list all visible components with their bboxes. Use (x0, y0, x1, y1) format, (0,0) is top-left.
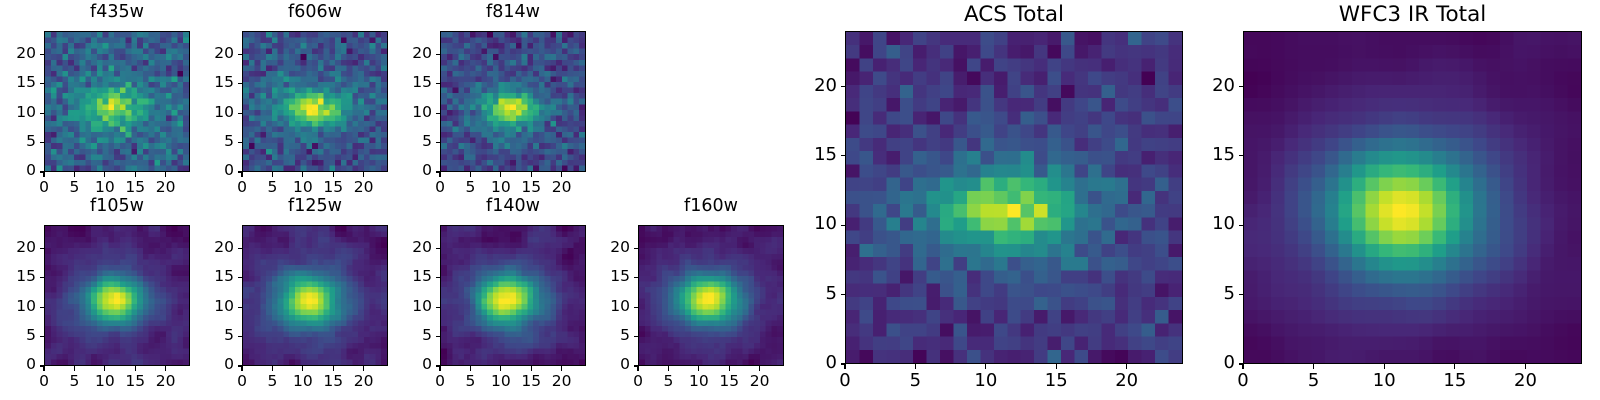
y-tick-mark (436, 83, 441, 84)
x-tick-mark (333, 366, 334, 371)
heatmap-image (242, 31, 388, 172)
y-tick-label: 5 (789, 285, 837, 303)
x-tick-mark (241, 172, 242, 177)
y-tick-mark (238, 83, 243, 84)
x-tick-mark (531, 172, 532, 177)
y-tick-mark (436, 307, 441, 308)
x-tick-mark (302, 366, 303, 371)
x-tick-mark (104, 172, 105, 177)
y-tick-mark (436, 113, 441, 114)
y-tick-mark (238, 142, 243, 143)
y-tick-mark (634, 307, 639, 308)
y-tick-label: 20 (1187, 77, 1235, 95)
panel-acs-total: ACS Total0510152005101520 (789, 0, 1189, 400)
y-tick-label: 5 (0, 328, 36, 344)
y-tick-label: 20 (0, 240, 36, 256)
x-tick-mark (1525, 364, 1526, 369)
panel-title: ACS Total (845, 4, 1183, 26)
y-tick-label: 10 (789, 215, 837, 233)
y-tick-label: 15 (0, 75, 36, 91)
x-tick-label: 15 (1433, 372, 1477, 390)
x-tick-label: 20 (738, 374, 782, 390)
y-tick-label: 5 (594, 328, 630, 344)
y-tick-label: 15 (198, 75, 234, 91)
y-tick-mark (40, 113, 45, 114)
y-tick-mark (238, 54, 243, 55)
panel-title: f814w (440, 4, 586, 22)
y-tick-mark (1239, 86, 1244, 87)
y-tick-mark (841, 225, 846, 226)
heatmap-image (44, 225, 190, 366)
x-tick-mark (272, 366, 273, 371)
x-tick-mark (241, 366, 242, 371)
y-tick-label: 15 (198, 269, 234, 285)
x-tick-label: 20 (540, 374, 584, 390)
x-tick-mark (668, 366, 669, 371)
x-tick-mark (1454, 364, 1455, 369)
x-tick-mark (165, 366, 166, 371)
y-tick-label: 5 (198, 134, 234, 150)
y-tick-label: 10 (396, 105, 432, 121)
x-tick-label: 10 (964, 372, 1008, 390)
y-tick-mark (634, 336, 639, 337)
panel-title: f435w (44, 4, 190, 22)
y-tick-mark (634, 248, 639, 249)
y-tick-mark (1239, 225, 1244, 226)
y-tick-label: 20 (396, 240, 432, 256)
panel-title: WFC3 IR Total (1243, 4, 1582, 26)
y-tick-mark (436, 54, 441, 55)
y-tick-label: 20 (198, 240, 234, 256)
y-tick-label: 5 (396, 328, 432, 344)
y-tick-mark (436, 336, 441, 337)
x-tick-mark (302, 172, 303, 177)
x-tick-mark (439, 366, 440, 371)
heatmap-image (440, 31, 586, 172)
x-tick-mark (915, 364, 916, 369)
x-tick-mark (104, 366, 105, 371)
y-tick-mark (40, 336, 45, 337)
x-tick-mark (1056, 364, 1057, 369)
panel-f125w: f125w0510152005101520 (198, 194, 394, 396)
x-tick-label: 0 (823, 372, 867, 390)
y-tick-label: 5 (0, 134, 36, 150)
y-tick-mark (238, 248, 243, 249)
x-tick-mark (985, 364, 986, 369)
y-tick-label: 10 (1187, 215, 1235, 233)
y-tick-mark (634, 277, 639, 278)
y-tick-label: 10 (198, 299, 234, 315)
y-tick-label: 15 (1187, 146, 1235, 164)
y-tick-label: 0 (0, 163, 36, 179)
x-tick-mark (844, 364, 845, 369)
x-tick-label: 20 (144, 374, 188, 390)
y-tick-label: 5 (1187, 285, 1235, 303)
y-tick-mark (40, 142, 45, 143)
panel-title: f606w (242, 4, 388, 22)
x-tick-mark (500, 172, 501, 177)
x-tick-mark (272, 172, 273, 177)
x-tick-mark (561, 172, 562, 177)
y-tick-label: 15 (789, 146, 837, 164)
y-tick-mark (40, 54, 45, 55)
y-tick-mark (238, 307, 243, 308)
y-tick-label: 0 (396, 163, 432, 179)
y-tick-label: 0 (789, 354, 837, 372)
y-tick-label: 5 (198, 328, 234, 344)
x-tick-mark (470, 366, 471, 371)
x-tick-label: 5 (893, 372, 937, 390)
x-tick-mark (698, 366, 699, 371)
panel-title: f160w (638, 198, 784, 216)
x-tick-label: 15 (1034, 372, 1078, 390)
heatmap-image (1243, 31, 1582, 364)
x-tick-mark (470, 172, 471, 177)
x-tick-label: 20 (342, 374, 386, 390)
x-tick-mark (363, 172, 364, 177)
y-tick-mark (1239, 294, 1244, 295)
x-tick-mark (43, 172, 44, 177)
y-tick-label: 20 (594, 240, 630, 256)
heatmap-image (44, 31, 190, 172)
x-tick-mark (637, 366, 638, 371)
panel-f814w: f814w0510152005101520 (396, 0, 592, 202)
x-tick-mark (135, 366, 136, 371)
y-tick-label: 0 (396, 357, 432, 373)
panel-title: f125w (242, 198, 388, 216)
x-tick-mark (333, 172, 334, 177)
y-tick-label: 0 (1187, 354, 1235, 372)
y-tick-mark (436, 142, 441, 143)
x-tick-label: 10 (1362, 372, 1406, 390)
figure-canvas: f435w0510152005101520f606w05101520051015… (0, 0, 1600, 400)
y-tick-mark (238, 113, 243, 114)
x-tick-mark (135, 172, 136, 177)
y-tick-label: 0 (594, 357, 630, 373)
y-tick-mark (40, 277, 45, 278)
y-tick-label: 10 (0, 299, 36, 315)
y-tick-label: 15 (0, 269, 36, 285)
heatmap-image (845, 31, 1183, 364)
y-tick-mark (40, 83, 45, 84)
panel-title: f140w (440, 198, 586, 216)
y-tick-label: 20 (396, 46, 432, 62)
x-tick-mark (363, 366, 364, 371)
y-tick-label: 5 (396, 134, 432, 150)
x-tick-mark (43, 366, 44, 371)
y-tick-mark (238, 336, 243, 337)
x-tick-mark (729, 366, 730, 371)
y-tick-label: 10 (396, 299, 432, 315)
y-tick-mark (238, 277, 243, 278)
panel-f606w: f606w0510152005101520 (198, 0, 394, 202)
y-tick-mark (841, 86, 846, 87)
y-tick-mark (841, 155, 846, 156)
x-tick-mark (74, 172, 75, 177)
panel-f435w: f435w0510152005101520 (0, 0, 196, 202)
x-tick-label: 5 (1292, 372, 1336, 390)
panel-f160w: f160w0510152005101520 (594, 194, 790, 396)
x-tick-label: 20 (1504, 372, 1548, 390)
x-tick-mark (1384, 364, 1385, 369)
x-tick-mark (500, 366, 501, 371)
y-tick-label: 15 (396, 269, 432, 285)
x-tick-mark (439, 172, 440, 177)
y-tick-label: 20 (198, 46, 234, 62)
y-tick-mark (40, 307, 45, 308)
y-tick-label: 15 (594, 269, 630, 285)
heatmap-image (638, 225, 784, 366)
x-tick-label: 20 (1105, 372, 1149, 390)
heatmap-image (440, 225, 586, 366)
y-tick-label: 15 (396, 75, 432, 91)
y-tick-label: 0 (198, 163, 234, 179)
y-tick-label: 10 (0, 105, 36, 121)
y-tick-mark (40, 248, 45, 249)
panel-f105w: f105w0510152005101520 (0, 194, 196, 396)
x-tick-mark (1242, 364, 1243, 369)
y-tick-mark (436, 277, 441, 278)
y-tick-mark (1239, 155, 1244, 156)
x-tick-label: 0 (1221, 372, 1265, 390)
y-tick-mark (436, 248, 441, 249)
heatmap-image (242, 225, 388, 366)
panel-f140w: f140w0510152005101520 (396, 194, 592, 396)
y-tick-label: 0 (198, 357, 234, 373)
panel-title: f105w (44, 198, 190, 216)
x-tick-mark (1126, 364, 1127, 369)
x-tick-mark (561, 366, 562, 371)
x-tick-mark (531, 366, 532, 371)
x-tick-mark (1313, 364, 1314, 369)
y-tick-mark (841, 294, 846, 295)
y-tick-label: 0 (0, 357, 36, 373)
x-tick-mark (759, 366, 760, 371)
y-tick-label: 20 (0, 46, 36, 62)
y-tick-label: 10 (198, 105, 234, 121)
panel-wfc3-ir-total: WFC3 IR Total0510152005101520 (1187, 0, 1588, 400)
x-tick-mark (74, 366, 75, 371)
y-tick-label: 10 (594, 299, 630, 315)
x-tick-mark (165, 172, 166, 177)
y-tick-label: 20 (789, 77, 837, 95)
